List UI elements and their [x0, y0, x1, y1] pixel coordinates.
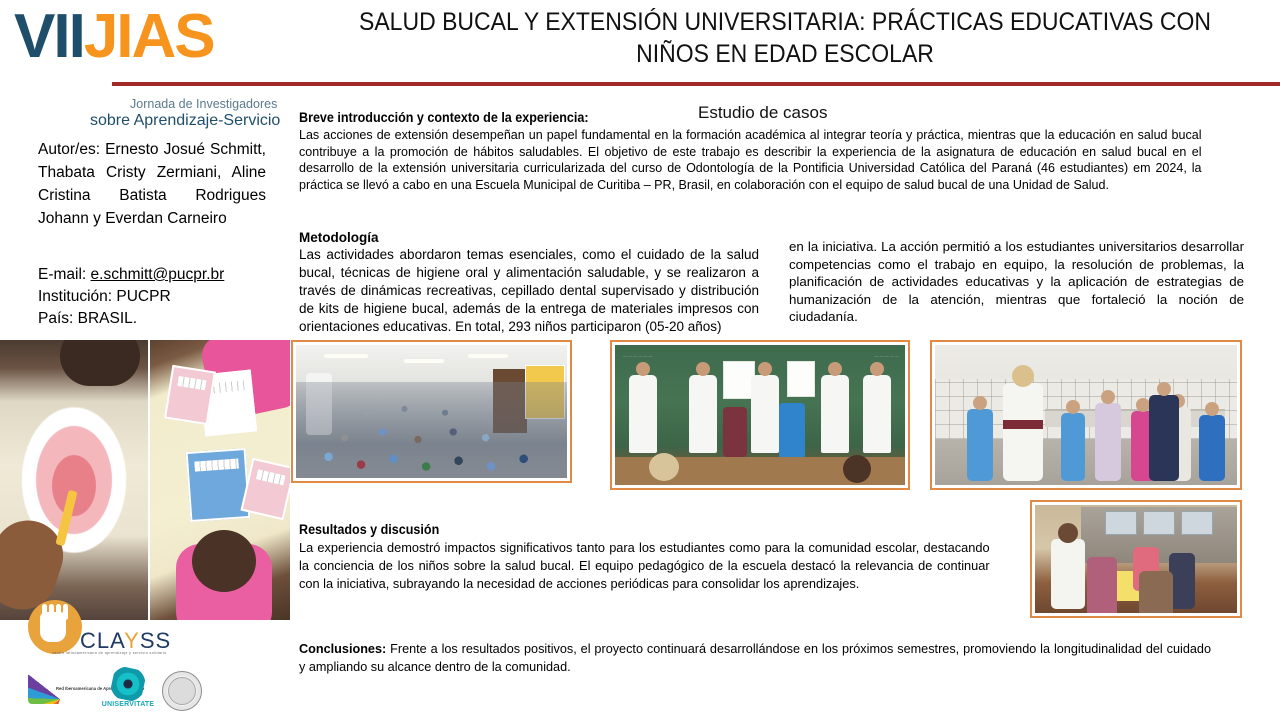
decor-shape — [60, 340, 140, 386]
clayss-finger-shape — [49, 604, 54, 620]
conclusion-body: Frente a los resultados positivos, el pr… — [299, 641, 1211, 674]
clayss-finger-shape — [42, 604, 47, 620]
decor-shape — [1095, 403, 1121, 481]
decor-shape — [1003, 420, 1043, 429]
conclusion-label: Conclusiones: — [299, 641, 386, 656]
decor-shape — [1199, 415, 1225, 481]
uniservitate-mark-icon — [109, 665, 147, 703]
decor-shape — [404, 359, 444, 363]
photo-group-hall-image — [296, 345, 567, 478]
decor-shape — [1003, 383, 1043, 481]
decor-shape — [192, 530, 256, 592]
photo-yellow-table-image — [1035, 505, 1237, 613]
decor-shape — [1087, 557, 1117, 613]
decor-shape: — — — — — — — [623, 353, 693, 358]
decor-shape — [843, 455, 871, 483]
results-body: La experiencia demostró impactos signifi… — [299, 539, 990, 593]
decor-shape — [1051, 539, 1085, 609]
clayss-word-y: Y — [124, 628, 140, 653]
methodology-body-left: Las actividades abordaron temas esencial… — [299, 246, 759, 336]
clayss-word-part2: SS — [140, 628, 171, 653]
logo-wordmark: VIIJIAS — [14, 6, 214, 68]
photo-blackboard-image: — — — — — — — — — — — — [615, 345, 905, 485]
country-line: País: BRASIL. — [38, 308, 278, 330]
photo-yellow-table — [1030, 500, 1242, 618]
introduction-section: Breve introducción y contexto de la expe… — [299, 110, 1249, 193]
decor-shape — [787, 361, 815, 397]
methodology-heading: Metodología — [299, 230, 379, 245]
decor-shape — [723, 407, 747, 457]
photo-brushing-sink — [930, 340, 1242, 490]
decor-shape — [1105, 511, 1137, 535]
decor-shape — [629, 375, 657, 453]
logo-subtitle-line1: Jornada de Investigadores — [130, 97, 277, 111]
page-title: SALUD BUCAL Y EXTENSIÓN UNIVERSITARIA: P… — [339, 6, 1231, 70]
email-link[interactable]: e.schmitt@pucpr.br — [91, 266, 225, 283]
worksheet-shape — [240, 458, 290, 521]
clayss-finger-shape — [56, 604, 61, 620]
poster-header: VIIJIAS Jornada de Investigadores sobre … — [0, 0, 1280, 90]
decor-shape — [1139, 571, 1173, 613]
decor-shape — [863, 375, 891, 453]
header-divider — [112, 82, 1280, 86]
viijias-logo: VIIJIAS Jornada de Investigadores sobre … — [12, 4, 282, 124]
email-label: E-mail: — [38, 266, 86, 283]
contact-block: E-mail: e.schmitt@pucpr.br Institución: … — [38, 264, 278, 330]
decor-shape — [1143, 511, 1175, 535]
teeth-row-shape — [194, 459, 239, 472]
introduction-heading: Breve introducción y contexto de la expe… — [299, 110, 1183, 125]
worksheet-shape — [164, 365, 216, 425]
decor-shape — [324, 354, 368, 358]
worksheet-shape — [186, 448, 251, 522]
seal-inner-ring — [168, 677, 196, 705]
logo-jias-text: JIAS — [84, 2, 214, 71]
authors-block: Autor/es: Ernesto Josué Schmitt, Thabata… — [38, 138, 266, 230]
methodology-body-right: en la iniciativa. La acción permitió a l… — [789, 238, 1244, 326]
photo-blackboard: — — — — — — — — — — — — [610, 340, 910, 490]
clayss-word-part1: CLA — [80, 628, 124, 653]
logo-subtitle-line2: sobre Aprendizaje-Servicio — [90, 112, 280, 130]
photo-mouth-model-image — [0, 340, 148, 620]
photo-brushing-sink-image — [935, 345, 1237, 485]
decor-shape — [1181, 511, 1213, 535]
red-iberoamericana-logo: Red Iberoamericana de Aprendizaje Servic… — [28, 670, 96, 710]
decor-shape — [649, 453, 679, 481]
logo-vii-text: VII — [14, 2, 84, 71]
uniservitate-logo: UNISERVITATE — [100, 668, 156, 714]
decor-shape: — — — — — — [833, 353, 899, 358]
decor-shape — [751, 375, 779, 453]
institution-line: Institución: PUCPR — [38, 286, 278, 308]
teeth-row-shape — [177, 376, 206, 390]
photo-group-hall — [291, 340, 572, 483]
decor-shape — [1149, 395, 1179, 481]
decor-shape — [689, 375, 717, 453]
clayss-tagline: centro latinoamericano de aprendizaje y … — [52, 651, 167, 655]
photo-coloring — [150, 340, 290, 620]
clayss-logo: CLAYSS centro latinoamericano de aprendi… — [22, 600, 154, 658]
university-seal-logo — [162, 671, 202, 711]
email-line: E-mail: e.schmitt@pucpr.br — [38, 264, 278, 286]
toothbrush-shape — [55, 490, 77, 547]
introduction-body: Las acciones de extensión desempeñan un … — [299, 127, 1202, 193]
teeth-row-shape — [256, 469, 286, 485]
results-heading: Resultados y discusión — [299, 522, 439, 537]
clayss-finger-shape — [63, 604, 68, 620]
partner-logos: Red Iberoamericana de Aprendizaje Servic… — [28, 668, 198, 714]
decor-shape — [1061, 413, 1085, 481]
decor-shape — [779, 403, 805, 459]
decor-shape — [296, 382, 567, 478]
decor-shape — [821, 375, 849, 453]
decor-shape — [967, 409, 993, 481]
decor-shape — [468, 354, 508, 358]
photo-coloring-image — [150, 340, 290, 620]
conclusion-section: Conclusiones: Frente a los resultados po… — [299, 640, 1211, 676]
photo-mouth-model — [0, 340, 148, 620]
uniservitate-label: UNISERVITATE — [100, 701, 156, 708]
